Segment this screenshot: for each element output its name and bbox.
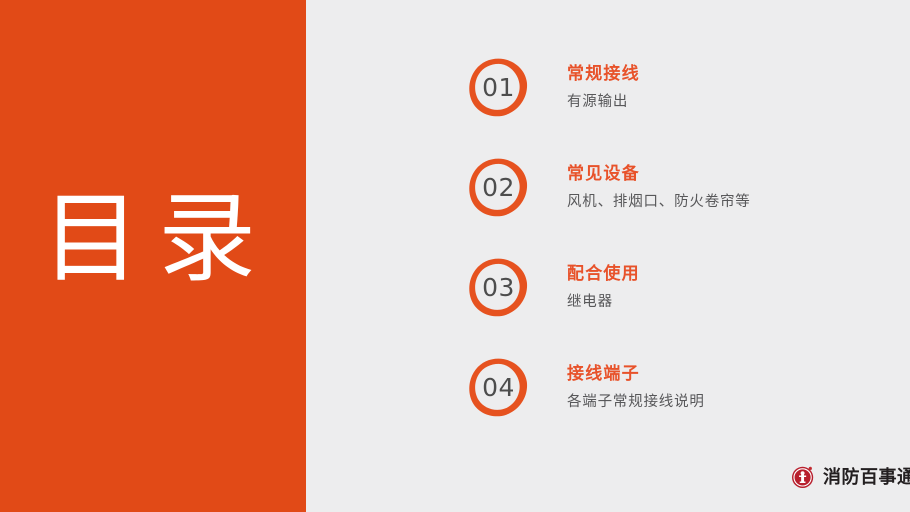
page-title: 目录 xyxy=(42,186,274,294)
toc-item-subtitle: 风机、排烟口、防火卷帘等 xyxy=(567,193,751,212)
toc-item-text: 常见设备 风机、排烟口、防火卷帘等 xyxy=(567,157,751,212)
toc-item-text: 配合使用 继电器 xyxy=(567,257,640,312)
toc-item-04[interactable]: 04 接线端子 各端子常规接线说明 xyxy=(468,357,888,457)
toc-item-number: 02 xyxy=(468,157,529,218)
brand-logo: 消防百事通 xyxy=(791,461,910,491)
toc-item-heading: 常规接线 xyxy=(567,63,640,85)
circle-ring-icon: 04 xyxy=(468,357,529,418)
toc-item-number: 04 xyxy=(468,357,529,418)
toc-item-heading: 接线端子 xyxy=(567,363,705,385)
toc-item-text: 接线端子 各端子常规接线说明 xyxy=(567,357,705,412)
right-content-panel: 01 常规接线 有源输出 02 常见设备 风机、排烟口、防火卷帘等 xyxy=(306,0,910,512)
toc-item-subtitle: 各端子常规接线说明 xyxy=(567,393,705,412)
toc-item-heading: 常见设备 xyxy=(567,163,751,185)
fire-hydrant-badge-icon xyxy=(791,464,816,489)
slide-canvas: 目录 01 常规接线 有源输出 xyxy=(0,0,910,512)
toc-item-subtitle: 继电器 xyxy=(567,293,640,312)
circle-ring-icon: 01 xyxy=(468,57,529,118)
toc-item-heading: 配合使用 xyxy=(567,263,640,285)
left-orange-panel: 目录 xyxy=(0,0,306,512)
toc-item-01[interactable]: 01 常规接线 有源输出 xyxy=(468,57,888,157)
toc-item-number: 03 xyxy=(468,257,529,318)
toc-item-subtitle: 有源输出 xyxy=(567,93,640,112)
toc-item-text: 常规接线 有源输出 xyxy=(567,57,640,112)
circle-ring-icon: 03 xyxy=(468,257,529,318)
toc-item-02[interactable]: 02 常见设备 风机、排烟口、防火卷帘等 xyxy=(468,157,888,257)
toc-item-number: 01 xyxy=(468,57,529,118)
toc-list: 01 常规接线 有源输出 02 常见设备 风机、排烟口、防火卷帘等 xyxy=(468,57,888,457)
logo-text: 消防百事通 xyxy=(823,463,910,489)
circle-ring-icon: 02 xyxy=(468,157,529,218)
toc-item-03[interactable]: 03 配合使用 继电器 xyxy=(468,257,888,357)
